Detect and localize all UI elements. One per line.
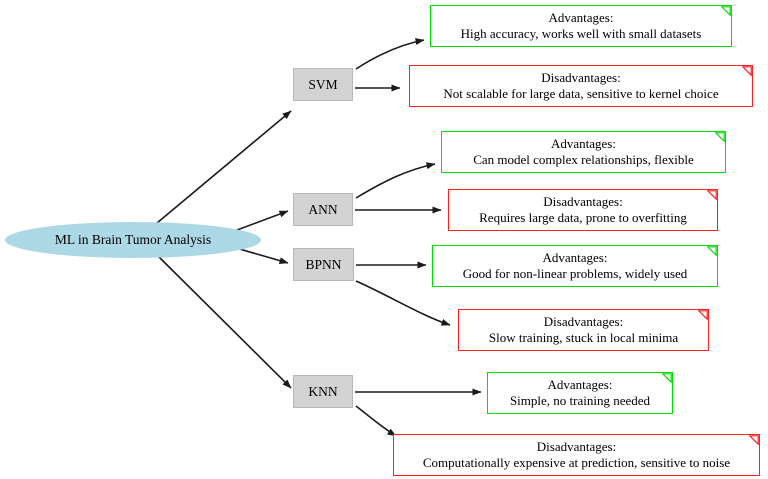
note-bpnn-advantages[interactable]: Advantages: Good for non-linear problems… <box>432 245 718 287</box>
note-body: Computationally expensive at prediction,… <box>423 455 730 471</box>
root-node-label: ML in Brain Tumor Analysis <box>55 233 211 248</box>
folded-corner-icon <box>715 132 725 142</box>
note-body: Not scalable for large data, sensitive t… <box>443 86 718 102</box>
note-knn-advantages[interactable]: Advantages: Simple, no training needed <box>487 372 673 414</box>
edge-root-knn <box>158 256 291 388</box>
edge-root-svm <box>157 111 291 223</box>
note-heading: Advantages: <box>551 136 616 152</box>
note-heading: Advantages: <box>543 250 608 266</box>
note-heading: Advantages: <box>548 377 613 393</box>
folded-corner-icon <box>742 66 752 76</box>
method-node-bpnn[interactable]: BPNN <box>293 248 354 281</box>
method-node-ann[interactable]: ANN <box>293 193 353 226</box>
edge-ann-adv <box>356 164 435 198</box>
note-body: Can model complex relationships, flexibl… <box>473 152 694 168</box>
note-bpnn-disadvantages[interactable]: Disadvantages: Slow training, stuck in l… <box>458 309 709 351</box>
diagram-canvas: ML in Brain Tumor Analysis SVM ANN BPNN … <box>0 0 768 479</box>
method-node-label: SVM <box>308 77 337 93</box>
folded-corner-icon <box>698 310 708 320</box>
note-heading: Disadvantages: <box>544 314 623 330</box>
note-svm-disadvantages[interactable]: Disadvantages: Not scalable for large da… <box>409 65 753 107</box>
note-heading: Advantages: <box>549 10 614 26</box>
edge-knn-dis <box>356 406 396 436</box>
note-heading: Disadvantages: <box>537 439 616 455</box>
note-svm-advantages[interactable]: Advantages: High accuracy, works well wi… <box>430 5 732 47</box>
note-body: Slow training, stuck in local minima <box>489 330 678 346</box>
folded-corner-icon <box>707 246 717 256</box>
note-heading: Disadvantages: <box>541 70 620 86</box>
note-heading: Disadvantages: <box>543 194 622 210</box>
folded-corner-icon <box>707 190 717 200</box>
folded-corner-icon <box>721 6 731 16</box>
method-node-svm[interactable]: SVM <box>293 68 353 101</box>
note-body: Good for non-linear problems, widely use… <box>463 266 688 282</box>
folded-corner-icon <box>749 435 759 445</box>
note-ann-disadvantages[interactable]: Disadvantages: Requires large data, pron… <box>448 189 718 231</box>
note-knn-disadvantages[interactable]: Disadvantages: Computationally expensive… <box>393 434 760 476</box>
note-body: High accuracy, works well with small dat… <box>461 26 702 42</box>
method-node-label: ANN <box>308 202 337 218</box>
root-node[interactable]: ML in Brain Tumor Analysis <box>5 222 261 258</box>
method-node-label: KNN <box>308 384 337 400</box>
edge-bpnn-dis <box>356 281 450 325</box>
method-node-label: BPNN <box>305 257 341 273</box>
note-ann-advantages[interactable]: Advantages: Can model complex relationsh… <box>441 131 726 173</box>
folded-corner-icon <box>662 373 672 383</box>
note-body: Requires large data, prone to overfittin… <box>479 210 687 226</box>
note-body: Simple, no training needed <box>510 393 650 409</box>
method-node-knn[interactable]: KNN <box>293 375 353 408</box>
